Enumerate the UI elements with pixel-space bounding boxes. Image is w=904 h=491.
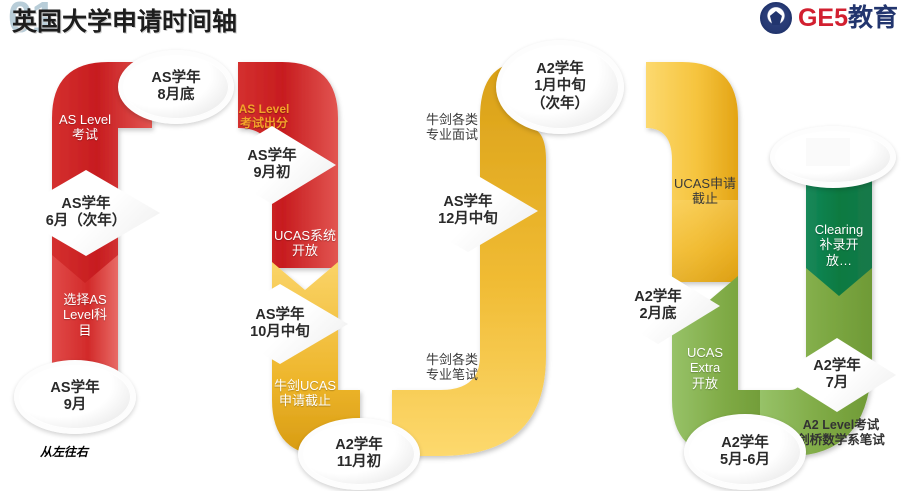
callout-a2-mid-jan-next[interactable]: A2学年1月中旬（次年）: [496, 40, 624, 134]
callout-as-aug-end[interactable]: AS学年8月底: [118, 50, 234, 124]
callout-label: AS学年12月中旬: [398, 170, 538, 252]
callout-label: AS学年10月中旬: [212, 284, 348, 364]
callout-label: AS学年9月初: [208, 126, 336, 204]
blank-placeholder-box: [806, 138, 850, 166]
timeline-infographic: 01 英国大学申请时间轴 GE5教育 从左往右: [0, 0, 904, 491]
callout-label: AS学年9月: [19, 365, 131, 429]
callout-label: A2学年11月初: [303, 423, 415, 485]
callout-a2-end-feb[interactable]: A2学年2月底: [596, 268, 720, 344]
callout-label: A2学年2月底: [596, 268, 720, 344]
callout-label: A2学年5月-6月: [689, 419, 801, 485]
callout-a2-jul[interactable]: A2学年7月: [778, 338, 896, 412]
callout-label: AS学年8月底: [123, 55, 229, 119]
callout-a2-early-nov[interactable]: A2学年11月初: [298, 418, 420, 490]
callout-label: A2学年7月: [778, 338, 896, 412]
callout-as-jun-next[interactable]: AS学年6月（次年）: [12, 170, 160, 256]
callout-label: AS学年6月（次年）: [12, 170, 160, 256]
callout-a2-may-jun[interactable]: A2学年5月-6月: [684, 414, 806, 490]
callout-as-sep[interactable]: AS学年9月: [14, 360, 136, 434]
callout-as-early-sep[interactable]: AS学年9月初: [208, 126, 336, 204]
callout-label: A2学年1月中旬（次年）: [501, 45, 619, 129]
callout-as-mid-dec[interactable]: AS学年12月中旬: [398, 170, 538, 252]
callout-as-mid-oct[interactable]: AS学年10月中旬: [212, 284, 348, 364]
